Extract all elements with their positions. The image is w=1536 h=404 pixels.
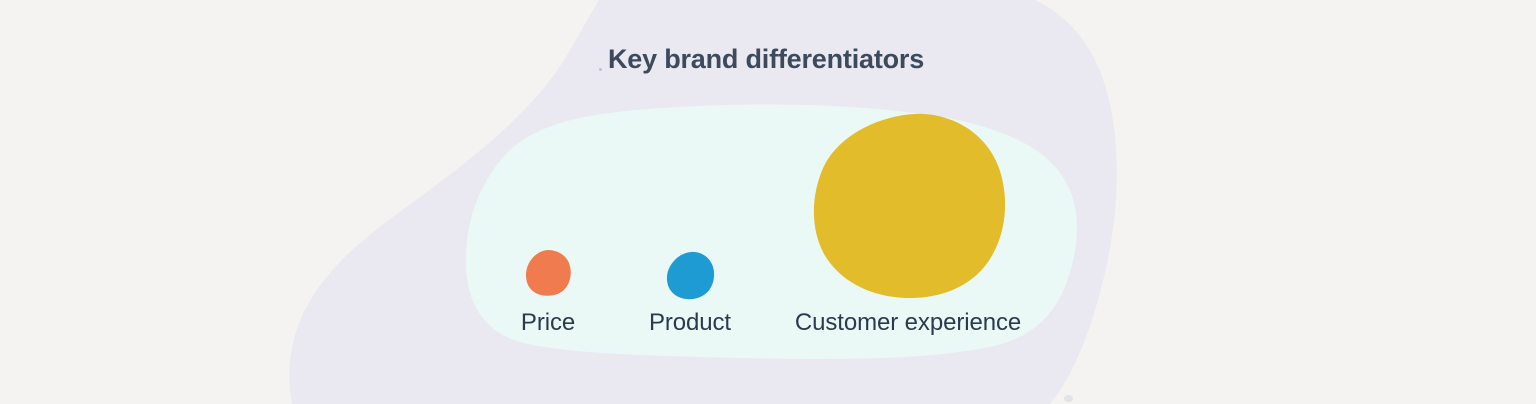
price-blob-icon — [525, 249, 572, 297]
bubble-customer-experience[interactable] — [810, 112, 1005, 299]
bubble-product[interactable] — [666, 251, 715, 300]
product-blob-icon — [666, 251, 715, 300]
page-title: Key brand differentiators — [0, 44, 1536, 75]
bubble-price[interactable] — [525, 249, 572, 297]
customer-experience-blob-icon — [810, 112, 1005, 299]
infographic-canvas: Key brand differentiators Price Product … — [0, 0, 1536, 404]
bubble-label-customer-experience: Customer experience — [758, 309, 1058, 337]
